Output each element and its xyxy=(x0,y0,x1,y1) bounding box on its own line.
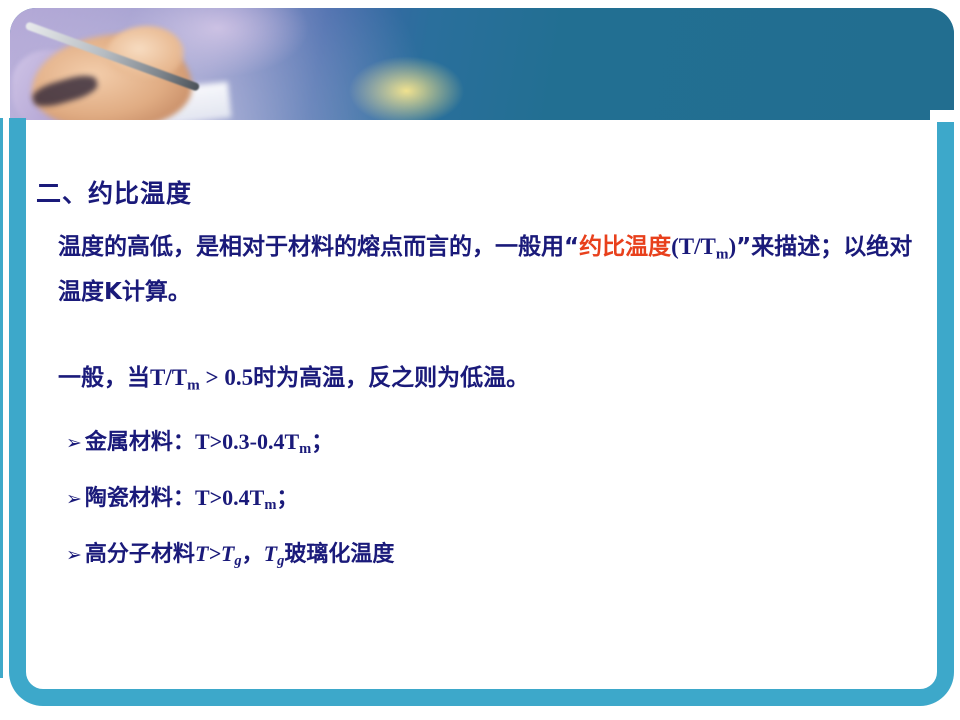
arrow-bullet-icon: ➢ xyxy=(66,546,82,565)
threshold-formula-subscript: m xyxy=(187,377,200,394)
bullet-label-ceramic: 陶瓷材料： xyxy=(85,484,195,514)
bullet-terminator-metal: ； xyxy=(311,428,333,458)
page-title: 二、约比温度 xyxy=(36,174,920,210)
bullet-formula-metal: T>0.3-0.4Tm xyxy=(195,427,311,464)
frame-mask xyxy=(930,110,960,122)
list-item: ➢高分子材料T>Tg，Tg玻璃化温度 xyxy=(66,539,920,576)
threshold-operator: > xyxy=(200,365,225,390)
slide-content: 二、约比温度 温度的高低，是相对于材料的熔点而言的，一般用“约比温度(T/Tm)… xyxy=(30,150,920,595)
bullet-separator-polymer: ， xyxy=(242,540,264,570)
section-number: 二、 xyxy=(36,179,88,208)
bullet-formula-polymer: T>Tg xyxy=(195,539,242,576)
list-item: ➢陶瓷材料：T>0.4Tm； xyxy=(66,483,920,520)
definition-formula-subscript: m xyxy=(716,245,729,262)
section-title-text: 约比温度 xyxy=(88,179,192,208)
bullet-tail-polymer: 玻璃化温度 xyxy=(284,540,394,570)
threshold-suffix: 时为高温，反之则为低温。 xyxy=(253,365,529,391)
arrow-bullet-icon: ➢ xyxy=(66,434,82,453)
bullet-terminator-ceramic: ； xyxy=(276,484,298,514)
bullet-label-polymer: 高分子材料 xyxy=(85,540,195,570)
arrow-bullet-icon: ➢ xyxy=(66,490,82,509)
watermark-text: 热处理小讲堂 xyxy=(778,654,934,690)
footer-watermark: 热处理小讲堂 xyxy=(726,654,934,690)
threshold-prefix: 一般，当 xyxy=(58,365,150,391)
paragraph-threshold: 一般，当T/Tm > 0.5时为高温，反之则为低温。 xyxy=(58,359,913,404)
definition-formula: (T/Tm) xyxy=(671,234,736,259)
bullet-label-metal: 金属材料： xyxy=(85,428,195,458)
threshold-formula: T/Tm > 0.5 xyxy=(150,365,253,390)
definition-part-1: 温度的高低，是相对于材料的熔点而言的，一般用“ xyxy=(58,234,579,260)
slide-canvas: 二、约比温度 温度的高低，是相对于材料的熔点而言的，一般用“约比温度(T/Tm)… xyxy=(0,0,960,720)
bullet-variable-tg: Tg xyxy=(264,539,285,576)
wechat-icon xyxy=(726,655,770,689)
bullet-formula-ceramic: T>0.4Tm xyxy=(195,483,276,520)
left-accent-rule xyxy=(0,118,3,678)
header-banner-image xyxy=(10,8,954,120)
list-item: ➢金属材料：T>0.3-0.4Tm； xyxy=(66,427,920,464)
definition-highlight: 约比温度 xyxy=(579,234,671,260)
threshold-value: 0.5 xyxy=(224,365,253,390)
material-criteria-list: ➢金属材料：T>0.3-0.4Tm； ➢陶瓷材料：T>0.4Tm； ➢高分子材料… xyxy=(66,427,920,576)
paragraph-definition: 温度的高低，是相对于材料的熔点而言的，一般用“约比温度(T/Tm)”来描述；以绝… xyxy=(58,228,913,311)
